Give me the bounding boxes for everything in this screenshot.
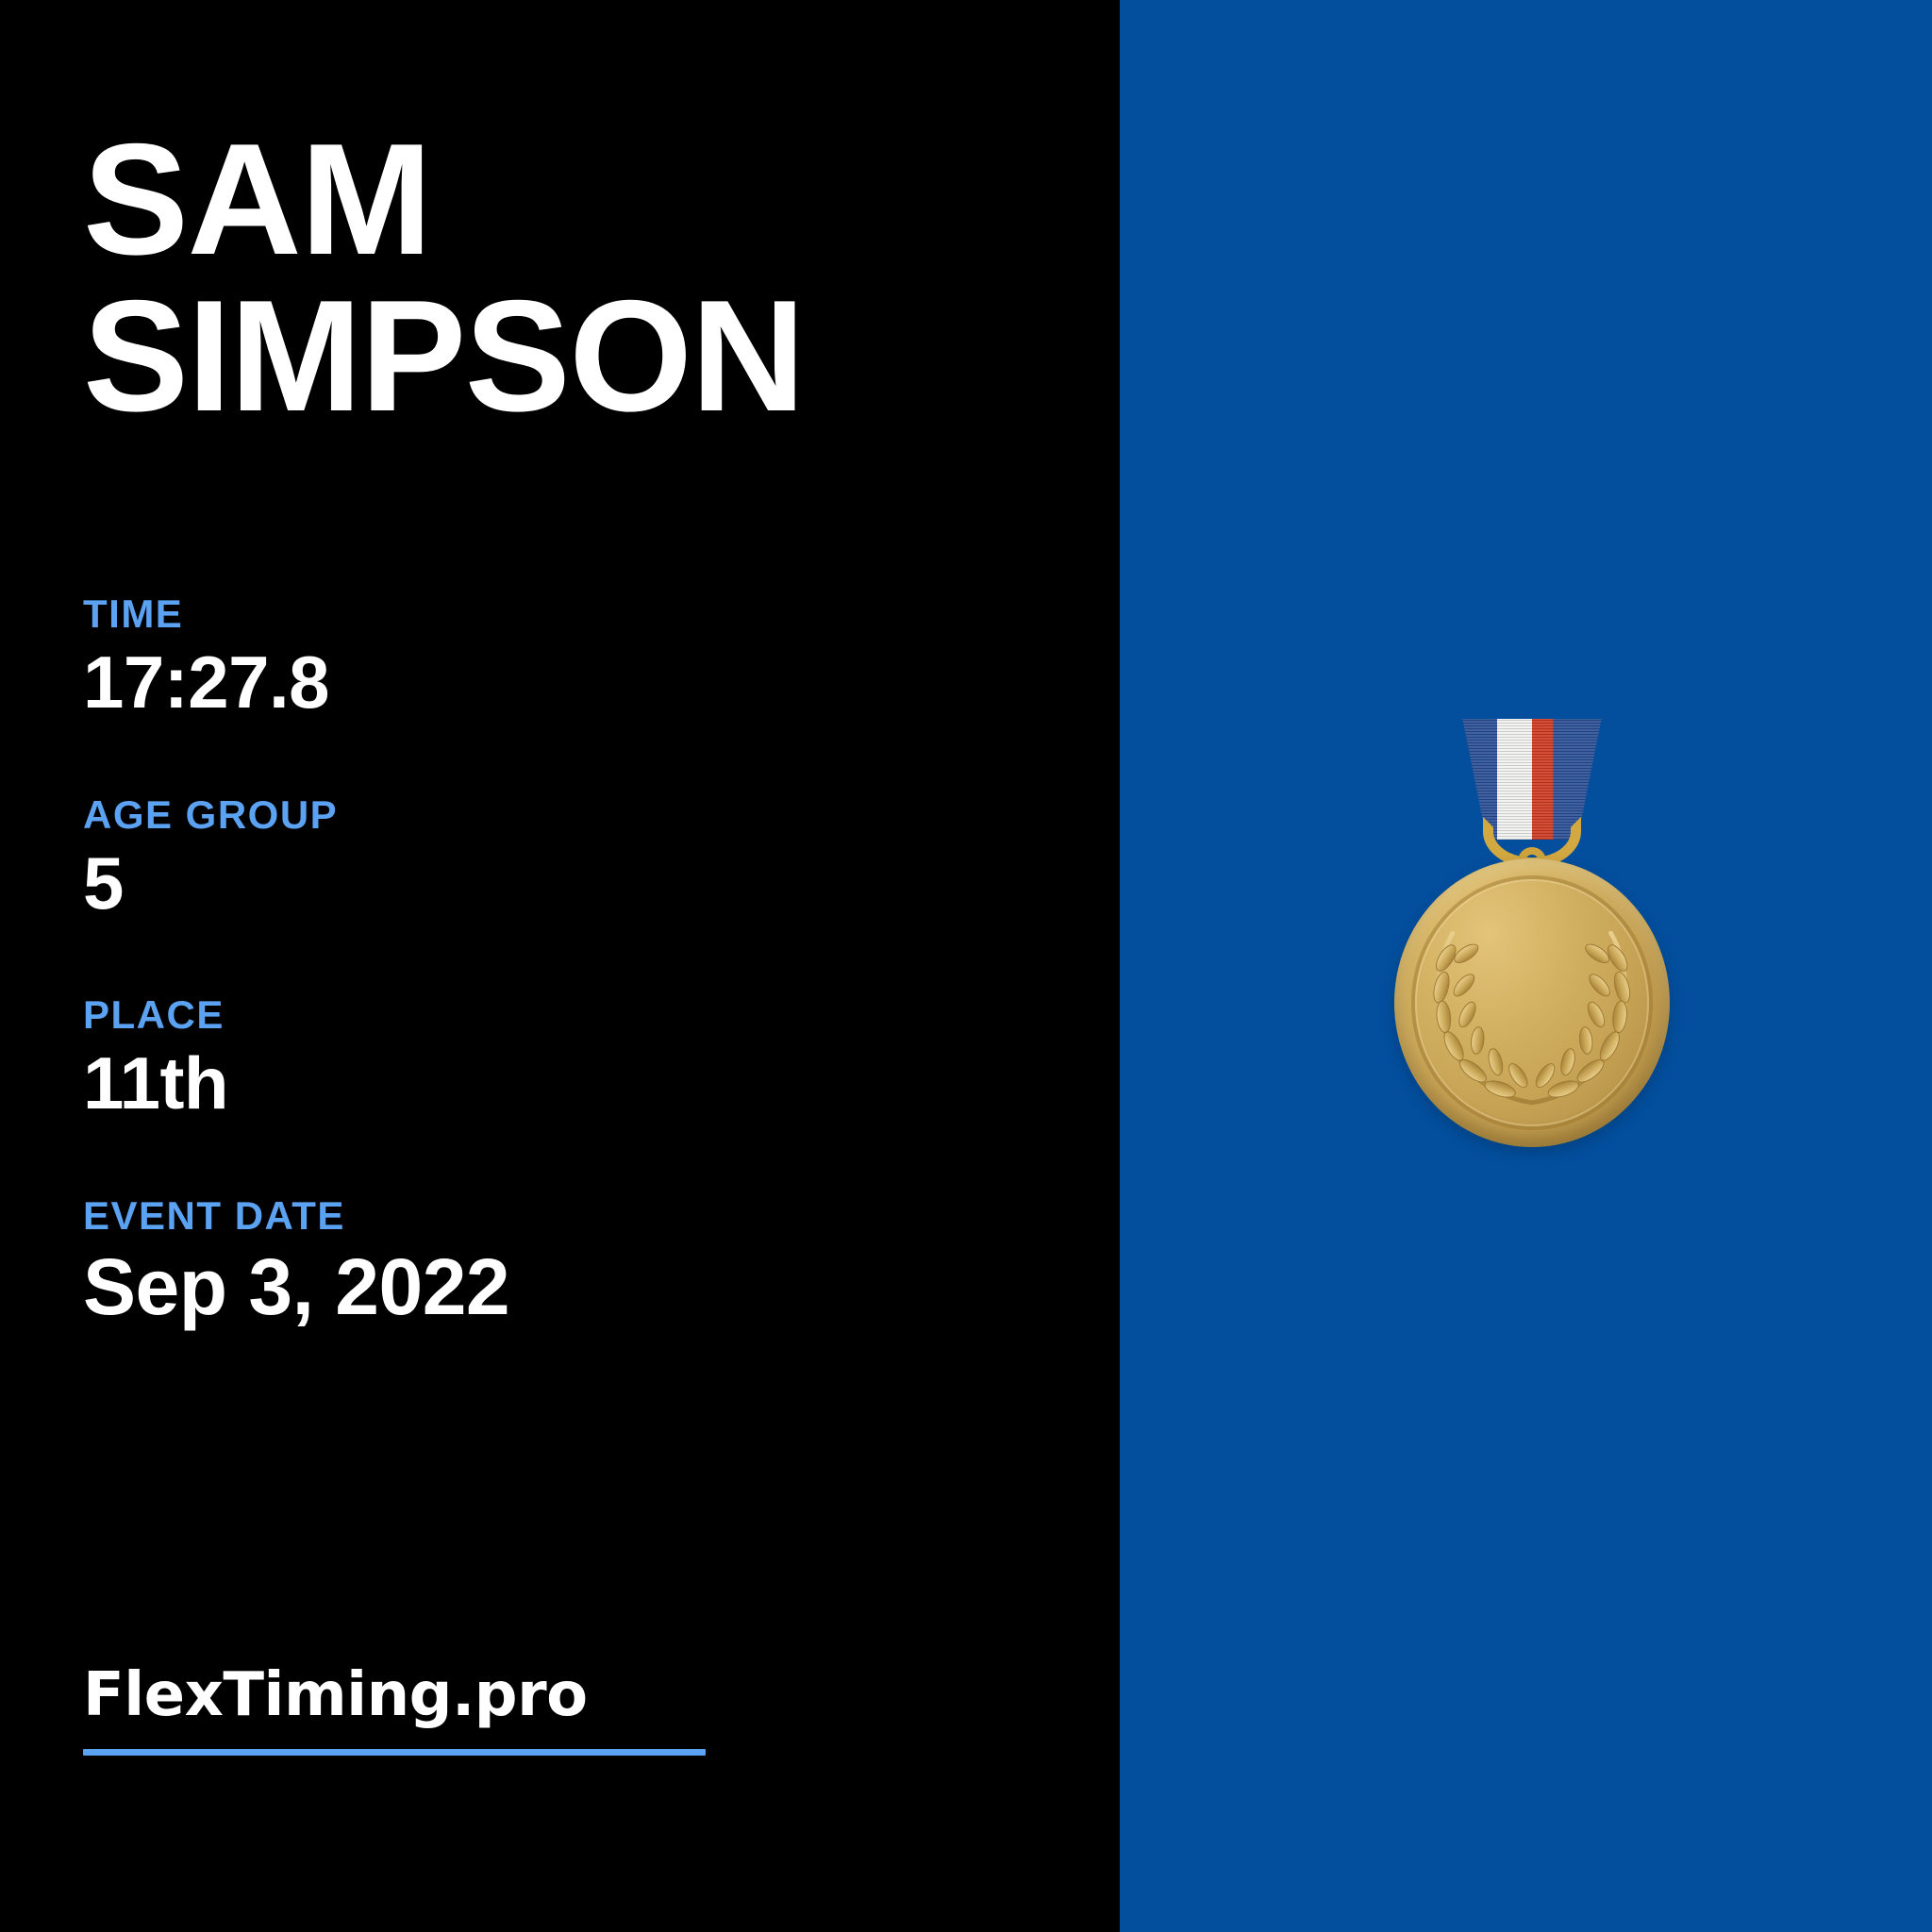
stat-label-event-date: EVENT DATE (83, 1196, 1074, 1236)
stats-list: TIME 17:27.8 AGE GROUP 5 PLACE 11th EVEN… (83, 594, 1074, 1403)
brand-logo[interactable]: FlexTiming.pro (83, 1662, 724, 1756)
athlete-last-name: SIMPSON (83, 277, 1074, 434)
stat-label-time: TIME (83, 594, 1074, 634)
result-card: SAM SIMPSON TIME 17:27.8 AGE GROUP 5 PLA… (0, 0, 1932, 1932)
stat-value-age-group: 5 (83, 844, 1074, 923)
athlete-name: SAM SIMPSON (83, 121, 1074, 435)
stat-place: PLACE 11th (83, 995, 1074, 1123)
brand-logo-text: FlexTiming.pro (83, 1662, 724, 1728)
gold-medal-icon (1394, 719, 1670, 1151)
stat-label-age-group: AGE GROUP (83, 795, 1074, 835)
stat-value-time: 17:27.8 (83, 643, 1074, 722)
stat-value-place: 11th (83, 1044, 1074, 1123)
stat-label-place: PLACE (83, 995, 1074, 1035)
stat-age-group: AGE GROUP 5 (83, 795, 1074, 923)
medal-disc (1394, 858, 1670, 1147)
athlete-first-name: SAM (83, 121, 1074, 277)
laurel-wreath-icon (1419, 885, 1644, 1122)
stat-time: TIME 17:27.8 (83, 594, 1074, 722)
stat-value-event-date: Sep 3, 2022 (83, 1245, 1074, 1329)
stat-event-date: EVENT DATE Sep 3, 2022 (83, 1196, 1074, 1329)
brand-logo-underline (83, 1749, 706, 1756)
